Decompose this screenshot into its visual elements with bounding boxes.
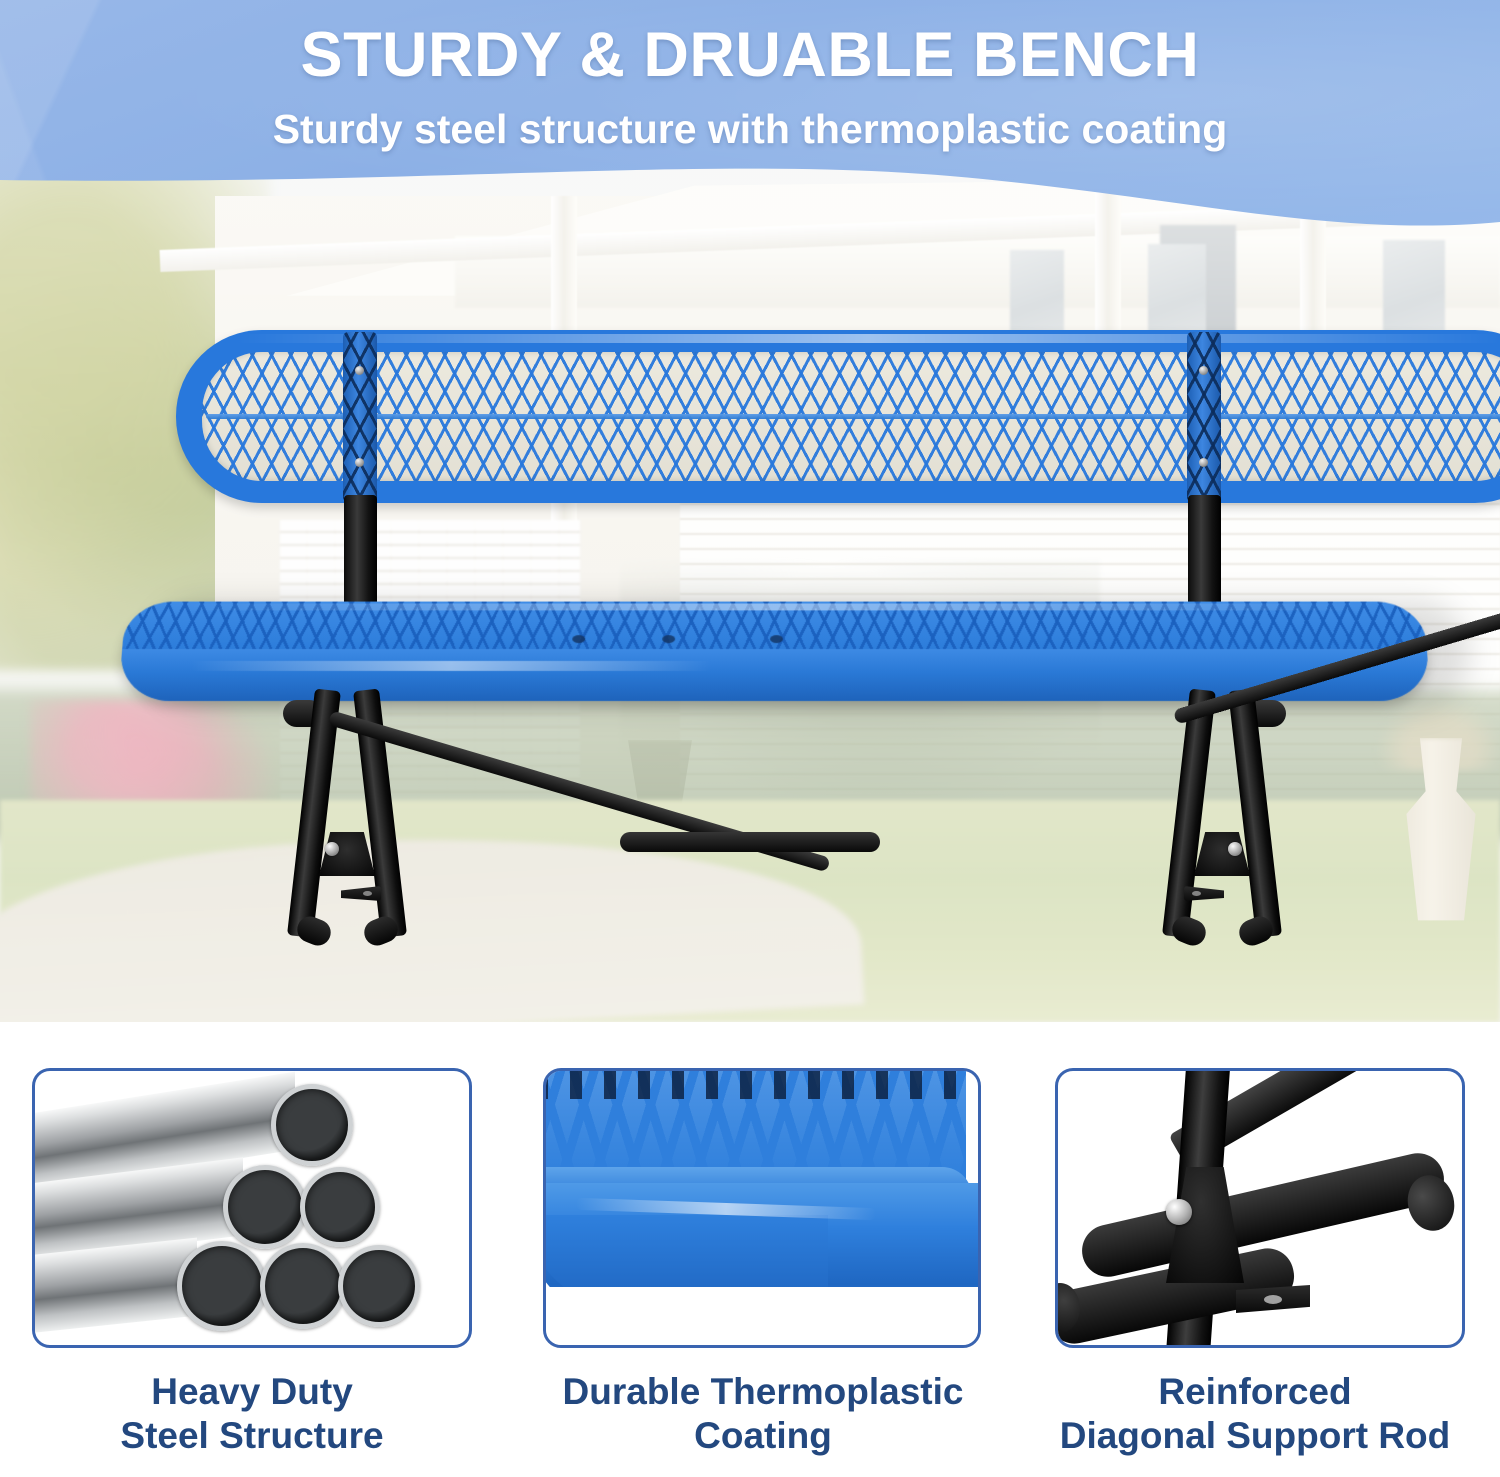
feature-panels: Heavy Duty Steel Structure Durable Therm… — [0, 1022, 1500, 1477]
caption-line: Steel Structure — [32, 1414, 472, 1458]
foot-plate-hole — [363, 891, 372, 896]
hex-bolt — [325, 842, 339, 856]
foot-plate-hole — [1192, 891, 1201, 896]
seat-front-highlight — [191, 661, 712, 671]
bench-support-post — [344, 495, 377, 610]
steel-pipe-opening — [223, 1165, 307, 1249]
feature-caption-steel-structure: Heavy Duty Steel Structure — [32, 1370, 472, 1457]
steel-pipe-opening — [260, 1243, 346, 1329]
feature-image-mesh-coating — [543, 1068, 981, 1348]
hex-bolt — [1166, 1199, 1192, 1225]
feature-caption-thermoplastic-coating: Durable Thermoplastic Coating — [513, 1370, 1013, 1457]
anchor-plate-hole — [1264, 1295, 1282, 1304]
backrest-center-rail — [206, 414, 1500, 419]
caption-line: Diagonal Support Rod — [1020, 1414, 1490, 1458]
bench-support-post — [1188, 495, 1221, 610]
caption-line: Heavy Duty — [32, 1370, 472, 1414]
seat-drain-hole — [662, 635, 675, 643]
brace-mesh-texture — [1187, 332, 1221, 502]
seat-drain-hole — [770, 635, 783, 643]
steel-pipe-opening — [338, 1245, 420, 1327]
page-title: STURDY & DRUABLE BENCH — [0, 19, 1500, 91]
diagonal-rod-center-joint — [620, 832, 880, 852]
hex-bolt — [355, 366, 364, 375]
hex-bolt — [355, 458, 364, 467]
steel-pipe-opening — [300, 1167, 380, 1247]
panel-white-space — [546, 1287, 978, 1345]
seat-highlight — [165, 604, 1384, 611]
bench-seat-mesh — [118, 602, 1431, 701]
mesh-shadow-band — [543, 1068, 966, 1099]
backrest-brace-right — [1187, 332, 1221, 502]
hex-bolt — [1228, 842, 1242, 856]
feature-image-steel-pipes — [32, 1068, 472, 1348]
brace-mesh-texture — [343, 332, 377, 502]
caption-line: Reinforced — [1020, 1370, 1490, 1414]
steel-pipe-opening — [177, 1241, 267, 1331]
backrest-brace-left — [343, 332, 377, 502]
hex-bolt — [1199, 366, 1208, 375]
leg-joint-gusset — [1194, 832, 1250, 876]
hex-bolt — [1199, 458, 1208, 467]
backrest-highlight — [236, 334, 1500, 343]
page-subtitle: Sturdy steel structure with thermoplasti… — [0, 106, 1500, 153]
caption-line: Coating — [513, 1414, 1013, 1458]
caption-line: Durable Thermoplastic — [513, 1370, 1013, 1414]
feature-caption-diagonal-support-rod: Reinforced Diagonal Support Rod — [1020, 1370, 1490, 1457]
steel-pipe-body — [32, 1238, 197, 1335]
bench-foot-plate — [341, 886, 381, 901]
feature-image-diagonal-rod — [1055, 1068, 1465, 1348]
steel-pipe-opening — [271, 1084, 353, 1166]
bench-foot-plate — [1184, 886, 1224, 901]
